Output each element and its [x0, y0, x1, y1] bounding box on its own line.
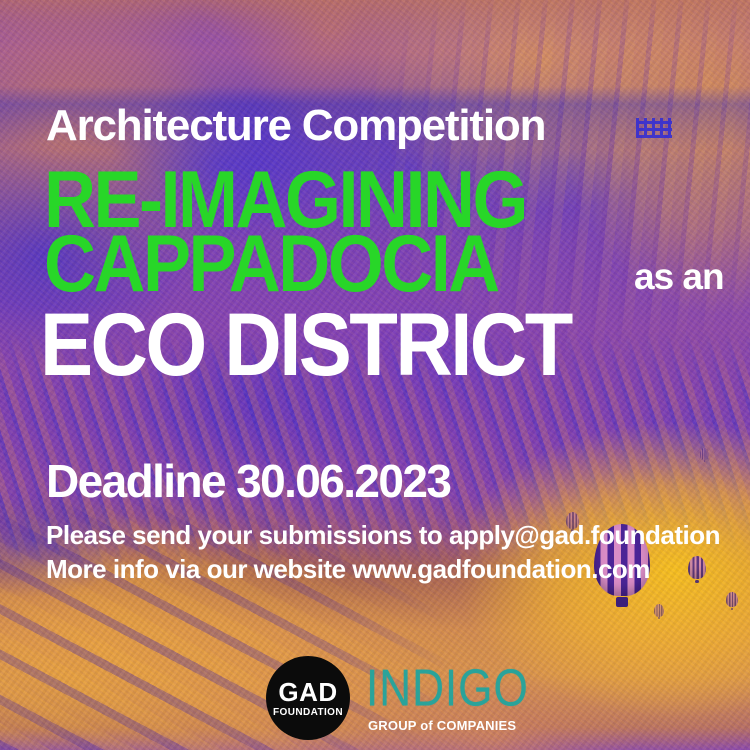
poster-text-block: Architecture Competition RE-IMAGINING CA… — [0, 0, 750, 750]
gad-logo-subtitle: FOUNDATION — [273, 708, 343, 718]
indigo-logo-subtitle: GROUP of COMPANIES — [368, 718, 516, 733]
deadline-text: Deadline 30.06.2023 — [46, 458, 450, 504]
poster-canvas: Architecture Competition RE-IMAGINING CA… — [0, 0, 750, 750]
gad-foundation-logo[interactable]: GAD FOUNDATION — [266, 656, 350, 740]
submission-email-line: Please send your submissions to apply@ga… — [46, 522, 720, 548]
indigo-group-logo[interactable]: INDIGO GROUP of COMPANIES — [366, 662, 516, 738]
headline-subject: ECO DISTRICT — [40, 300, 571, 389]
headline-line-2: CAPPADOCIA — [44, 224, 498, 305]
indigo-logo-name: INDIGO — [366, 662, 510, 714]
gad-logo-name: GAD — [278, 679, 337, 705]
website-info-line: More info via our website www.gadfoundat… — [46, 556, 650, 582]
competition-kicker: Architecture Competition — [46, 104, 545, 148]
headline-connector: as an — [634, 258, 724, 295]
